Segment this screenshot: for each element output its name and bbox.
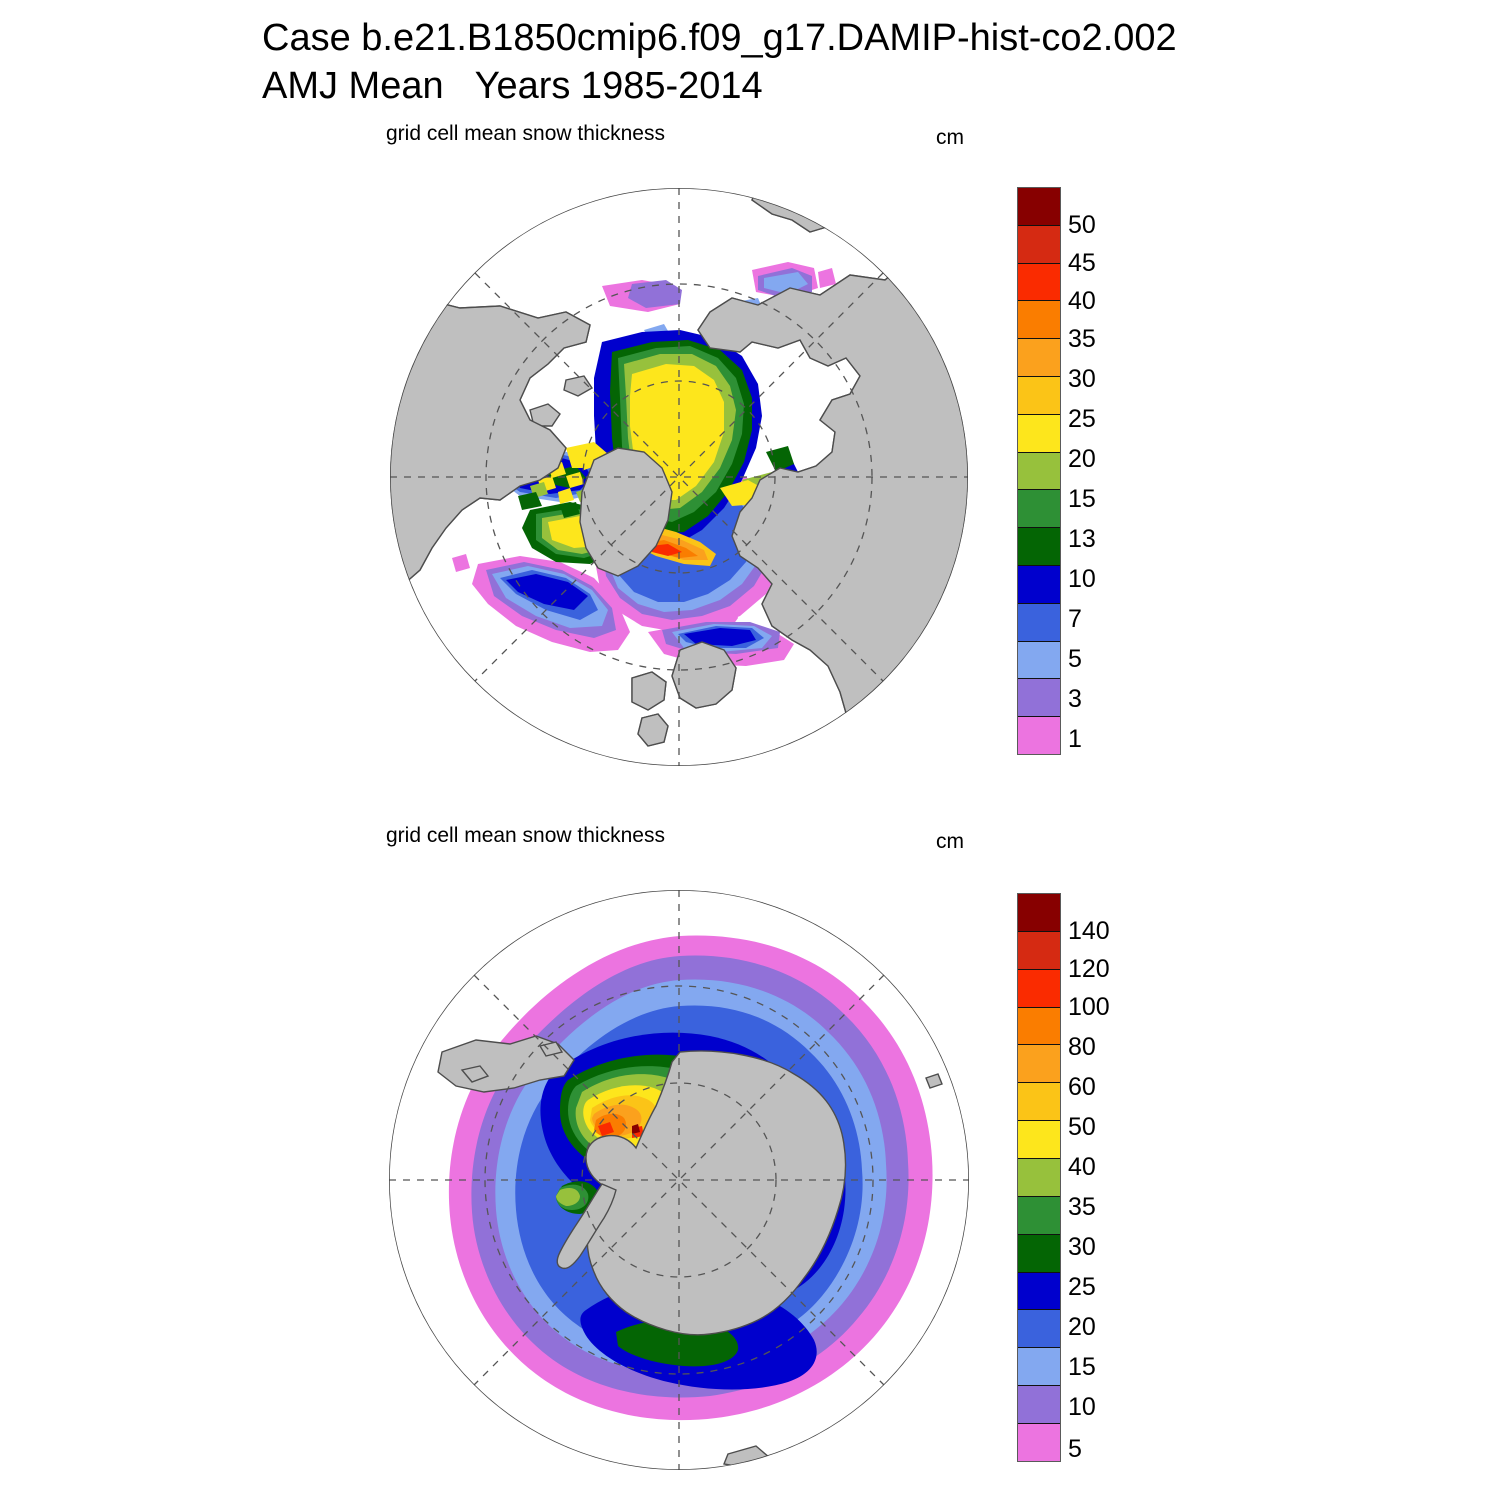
colorbar-tick: 7 — [1068, 607, 1082, 632]
colorbar-tick: 35 — [1068, 327, 1096, 352]
colorbar-band[interactable] — [1018, 642, 1060, 680]
colorbar-tick: 50 — [1068, 213, 1096, 238]
colorbar-band[interactable] — [1018, 1424, 1060, 1461]
colorbar-tick: 50 — [1068, 1115, 1096, 1140]
antarctic-map-content — [389, 890, 969, 1470]
colorbar-band[interactable] — [1018, 1348, 1060, 1386]
colorbar-tick: 20 — [1068, 1315, 1096, 1340]
colorbar-tick: 10 — [1068, 1395, 1096, 1420]
title-line-2: AMJ Mean Years 1985-2014 — [262, 62, 1362, 110]
colorbar-band[interactable] — [1018, 1310, 1060, 1348]
colorbar-band[interactable] — [1018, 1273, 1060, 1311]
colorbar-tick: 40 — [1068, 1155, 1096, 1180]
colorbar-band[interactable] — [1018, 1121, 1060, 1159]
colorbar-band[interactable] — [1018, 970, 1060, 1008]
arctic-colorbar[interactable] — [1017, 187, 1061, 755]
colorbar-tick: 20 — [1068, 447, 1096, 472]
colorbar-tick: 15 — [1068, 1355, 1096, 1380]
colorbar-band[interactable] — [1018, 188, 1060, 226]
colorbar-band[interactable] — [1018, 1159, 1060, 1197]
colorbar-band[interactable] — [1018, 1235, 1060, 1273]
colorbar-tick: 35 — [1068, 1195, 1096, 1220]
colorbar-band[interactable] — [1018, 264, 1060, 302]
colorbar-band[interactable] — [1018, 1197, 1060, 1235]
colorbar-band[interactable] — [1018, 1008, 1060, 1046]
colorbar-tick: 45 — [1068, 251, 1096, 276]
colorbar-tick: 1 — [1068, 727, 1082, 752]
colorbar-band[interactable] — [1018, 566, 1060, 604]
colorbar-band[interactable] — [1018, 528, 1060, 566]
colorbar-band[interactable] — [1018, 226, 1060, 264]
colorbar-tick: 15 — [1068, 487, 1096, 512]
arctic-units-label: cm — [936, 126, 964, 150]
antarctic-map-svg — [380, 880, 980, 1480]
antarctic-colorbar-labels: 140 120 100 80 60 50 40 35 30 25 20 15 1… — [1068, 893, 1158, 1462]
colorbar-band[interactable] — [1018, 377, 1060, 415]
colorbar-tick: 25 — [1068, 1275, 1096, 1300]
colorbar-tick: 120 — [1068, 957, 1110, 982]
arctic-colorbar-labels: 50 45 40 35 30 25 20 15 13 10 7 5 3 1 — [1068, 187, 1158, 755]
colorbar-band[interactable] — [1018, 1045, 1060, 1083]
colorbar-band[interactable] — [1018, 894, 1060, 932]
colorbar-tick: 30 — [1068, 367, 1096, 392]
colorbar-tick: 10 — [1068, 567, 1096, 592]
colorbar-tick: 5 — [1068, 647, 1082, 672]
figure-title: Case b.e21.B1850cmip6.f09_g17.DAMIP-hist… — [262, 14, 1362, 110]
colorbar-tick: 40 — [1068, 289, 1096, 314]
colorbar-band[interactable] — [1018, 1386, 1060, 1424]
colorbar-band[interactable] — [1018, 717, 1060, 754]
colorbar-tick: 3 — [1068, 687, 1082, 712]
colorbar-band[interactable] — [1018, 490, 1060, 528]
colorbar-tick: 140 — [1068, 919, 1110, 944]
colorbar-tick: 13 — [1068, 527, 1096, 552]
colorbar-tick: 5 — [1068, 1437, 1082, 1462]
colorbar-band[interactable] — [1018, 1083, 1060, 1121]
antarctic-map-panel — [380, 880, 980, 1480]
colorbar-band[interactable] — [1018, 301, 1060, 339]
arctic-panel-subtitle: grid cell mean snow thickness — [386, 122, 665, 146]
title-line-1: Case b.e21.B1850cmip6.f09_g17.DAMIP-hist… — [262, 14, 1362, 62]
colorbar-tick: 25 — [1068, 407, 1096, 432]
arctic-map-panel — [380, 180, 980, 780]
antarctic-colorbar[interactable] — [1017, 893, 1061, 1462]
arctic-map-svg — [380, 180, 980, 780]
colorbar-band[interactable] — [1018, 453, 1060, 491]
colorbar-band[interactable] — [1018, 415, 1060, 453]
colorbar-band[interactable] — [1018, 604, 1060, 642]
colorbar-tick: 80 — [1068, 1035, 1096, 1060]
colorbar-band[interactable] — [1018, 932, 1060, 970]
land-island-top — [788, 896, 810, 912]
colorbar-band[interactable] — [1018, 679, 1060, 717]
antarctic-units-label: cm — [936, 830, 964, 854]
colorbar-tick: 60 — [1068, 1075, 1096, 1100]
colorbar-tick: 100 — [1068, 995, 1110, 1020]
antarctic-panel-subtitle: grid cell mean snow thickness — [386, 824, 665, 848]
figure-canvas: Case b.e21.B1850cmip6.f09_g17.DAMIP-hist… — [0, 0, 1500, 1500]
colorbar-band[interactable] — [1018, 339, 1060, 377]
colorbar-tick: 30 — [1068, 1235, 1096, 1260]
